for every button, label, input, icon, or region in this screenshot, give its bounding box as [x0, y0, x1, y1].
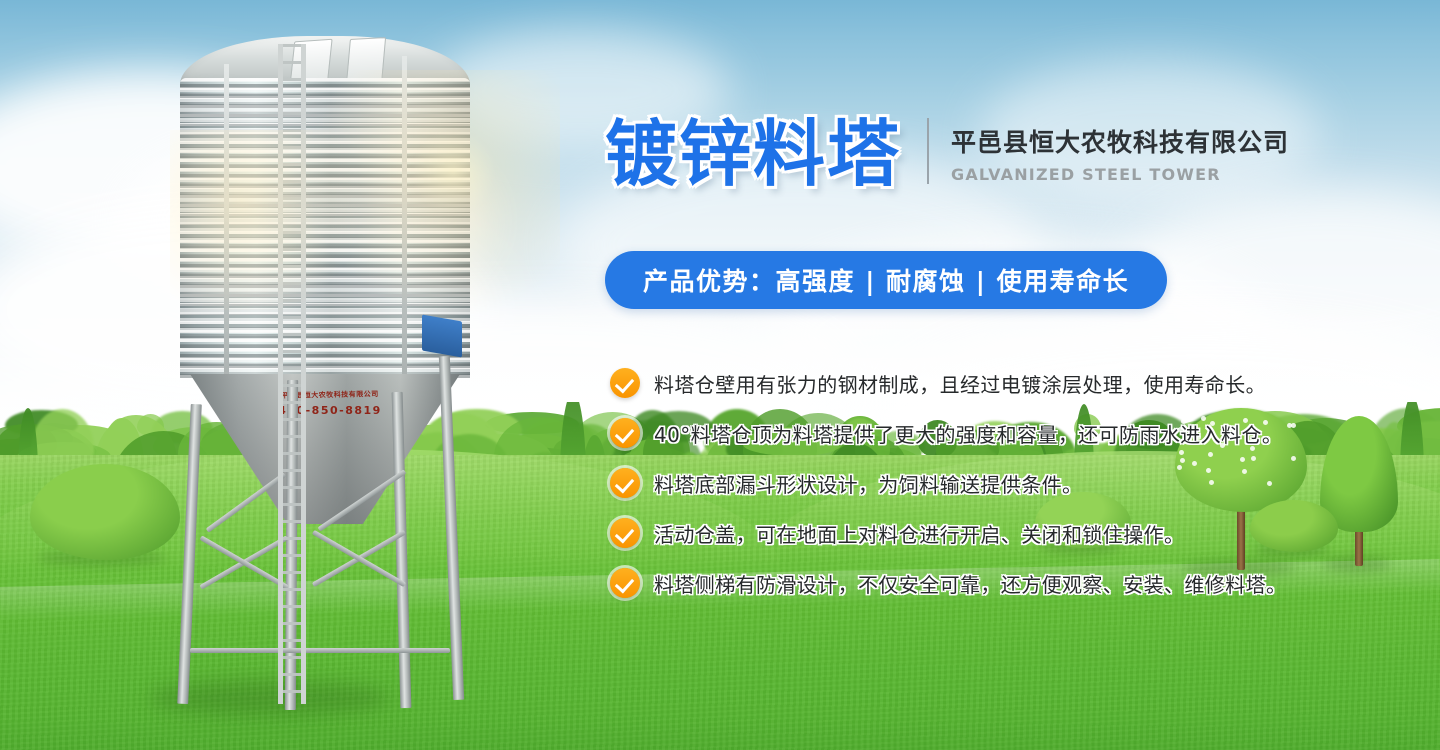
check-circle-icon: [610, 418, 640, 448]
silo-product-image: 平邑县恒大农牧科技有限公司 400-850-8819: [150, 0, 510, 750]
feature-list-item: 料塔底部漏斗形状设计，为饲料输送提供条件。: [610, 458, 1440, 508]
feature-list-item: 活动仓盖，可在地面上对料仓进行开启、关闭和锁住操作。: [610, 508, 1440, 558]
product-advantage-pill: 产品优势：高强度 | 耐腐蚀 | 使用寿命长: [605, 251, 1167, 309]
feature-list-item: 料塔仓壁用有张力的钢材制成，且经过电镀涂层处理，使用寿命长。: [610, 358, 1440, 408]
company-name-en: GALVANIZED STEEL TOWER: [951, 165, 1289, 184]
check-circle-icon: [610, 568, 640, 598]
silo-base-brace: [190, 648, 450, 653]
feature-list: 料塔仓壁用有张力的钢材制成，且经过电镀涂层处理，使用寿命长。40°料塔仓顶为料塔…: [610, 358, 1440, 608]
feature-list-item: 40°料塔仓顶为料塔提供了更大的强度和容量，还可防雨水进入料仓。: [610, 408, 1440, 458]
banner-hero: 平邑县恒大农牧科技有限公司 400-850-8819 镀锌料塔 平邑县恒大农牧科…: [0, 0, 1440, 750]
feature-list-item: 料塔侧梯有防滑设计，不仅安全可靠，还方便观察、安装、维修料塔。: [610, 558, 1440, 608]
company-name: 平邑县恒大农牧科技有限公司: [951, 127, 1289, 158]
silo-blue-chute: [422, 314, 462, 357]
feature-list-item-text: 料塔侧梯有防滑设计，不仅安全可靠，还方便观察、安装、维修料塔。: [654, 569, 1286, 598]
company-block: 平邑县恒大农牧科技有限公司 GALVANIZED STEEL TOWER: [951, 127, 1289, 190]
page-title: 镀锌料塔: [605, 118, 901, 190]
title-row: 镀锌料塔 平邑县恒大农牧科技有限公司 GALVANIZED STEEL TOWE…: [605, 118, 1289, 190]
feature-list-item-text: 40°料塔仓顶为料塔提供了更大的强度和容量，还可防雨水进入料仓。: [654, 419, 1282, 448]
silo-ladder: [278, 44, 306, 704]
feature-list-item-text: 料塔底部漏斗形状设计，为饲料输送提供条件。: [654, 469, 1082, 498]
check-circle-icon: [610, 518, 640, 548]
silo-side-rail: [224, 64, 229, 394]
hero-copy: 镀锌料塔 平邑县恒大农牧科技有限公司 GALVANIZED STEEL TOWE…: [600, 0, 1440, 750]
check-circle-icon: [610, 368, 640, 398]
feature-list-item-text: 料塔仓壁用有张力的钢材制成，且经过电镀涂层处理，使用寿命长。: [654, 369, 1266, 398]
title-divider: [927, 118, 929, 184]
product-advantage-text: 产品优势：高强度 | 耐腐蚀 | 使用寿命长: [643, 262, 1129, 298]
feature-list-item-text: 活动仓盖，可在地面上对料仓进行开启、关闭和锁住操作。: [654, 519, 1184, 548]
silo-side-rail: [402, 56, 407, 386]
silo-leg: [177, 404, 202, 704]
check-circle-icon: [610, 468, 640, 498]
